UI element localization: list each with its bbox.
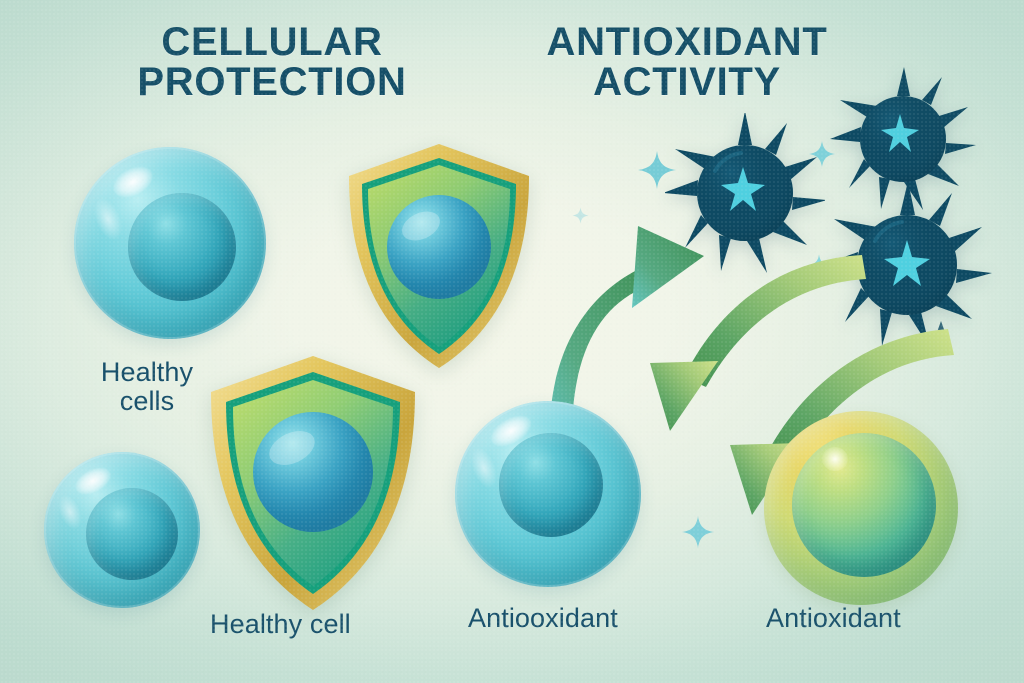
sparkle-2-icon [808, 140, 836, 168]
caption-healthy-cells: Healthy cells [72, 358, 222, 416]
page-title-left: CELLULAR PROTECTION [92, 23, 452, 102]
shield-lower [202, 352, 424, 614]
caption-antioxidant: Antioxidant [766, 604, 996, 633]
caption-antiooxidant: Antiooxidant [468, 604, 708, 633]
shield-upper [341, 140, 537, 372]
cell-nucleus [499, 433, 603, 537]
healthy-cell-bottom-left [44, 452, 200, 608]
antioxidant-highlight [822, 447, 848, 471]
cell-nucleus [128, 193, 236, 301]
antioxidant-cell-middle [455, 401, 641, 587]
sparkle-1-icon [637, 150, 677, 190]
illustration-canvas: CELLULAR PROTECTION ANTIOXIDANT ACTIVITY… [0, 0, 1024, 683]
healthy-cell-top-left [74, 147, 266, 339]
antioxidant-cell-right [764, 411, 958, 605]
page-title-right: ANTIOXIDANT ACTIVITY [497, 23, 877, 102]
caption-healthy-cell: Healthy cell [210, 610, 400, 639]
antioxidant-core [792, 433, 936, 577]
cell-nucleus [86, 488, 178, 580]
